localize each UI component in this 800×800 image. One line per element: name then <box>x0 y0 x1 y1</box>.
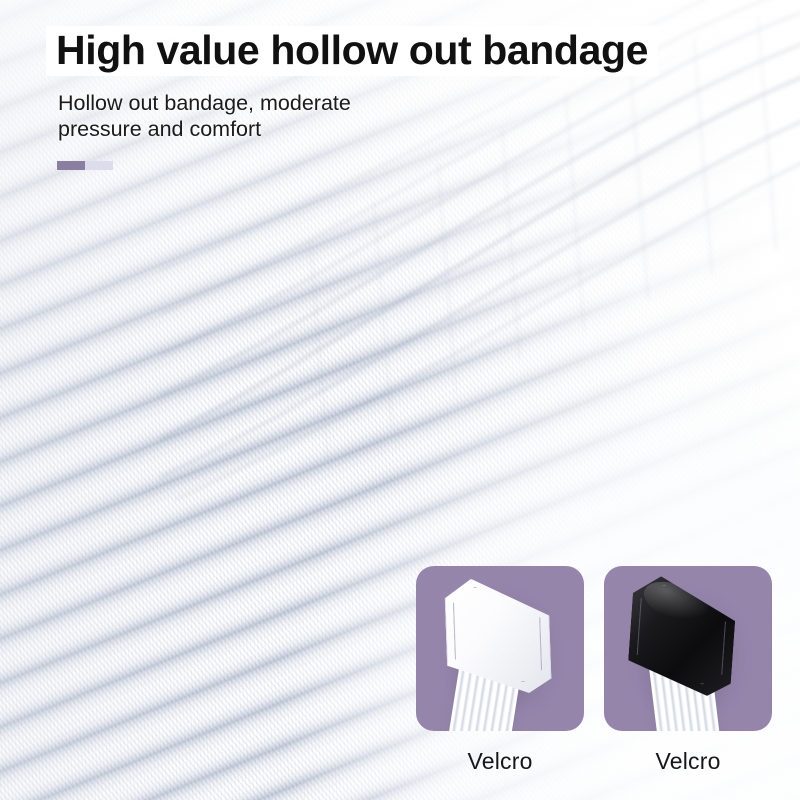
detail-card-white-velcro[interactable] <box>416 566 584 731</box>
page-title: High value hollow out bandage <box>56 28 648 72</box>
product-banner: High value hollow out bandage Hollow out… <box>0 0 800 800</box>
caption-white-velcro: Velcro <box>416 748 584 775</box>
caption-black-velcro: Velcro <box>604 748 772 775</box>
accent-bar <box>57 161 113 170</box>
title-plate: High value hollow out bandage <box>46 26 658 76</box>
detail-card-black-velcro[interactable] <box>604 566 772 731</box>
accent-bar-dark-segment <box>57 161 85 170</box>
accent-bar-light-segment <box>85 161 113 170</box>
subtitle: Hollow out bandage, moderate pressure an… <box>58 91 351 143</box>
